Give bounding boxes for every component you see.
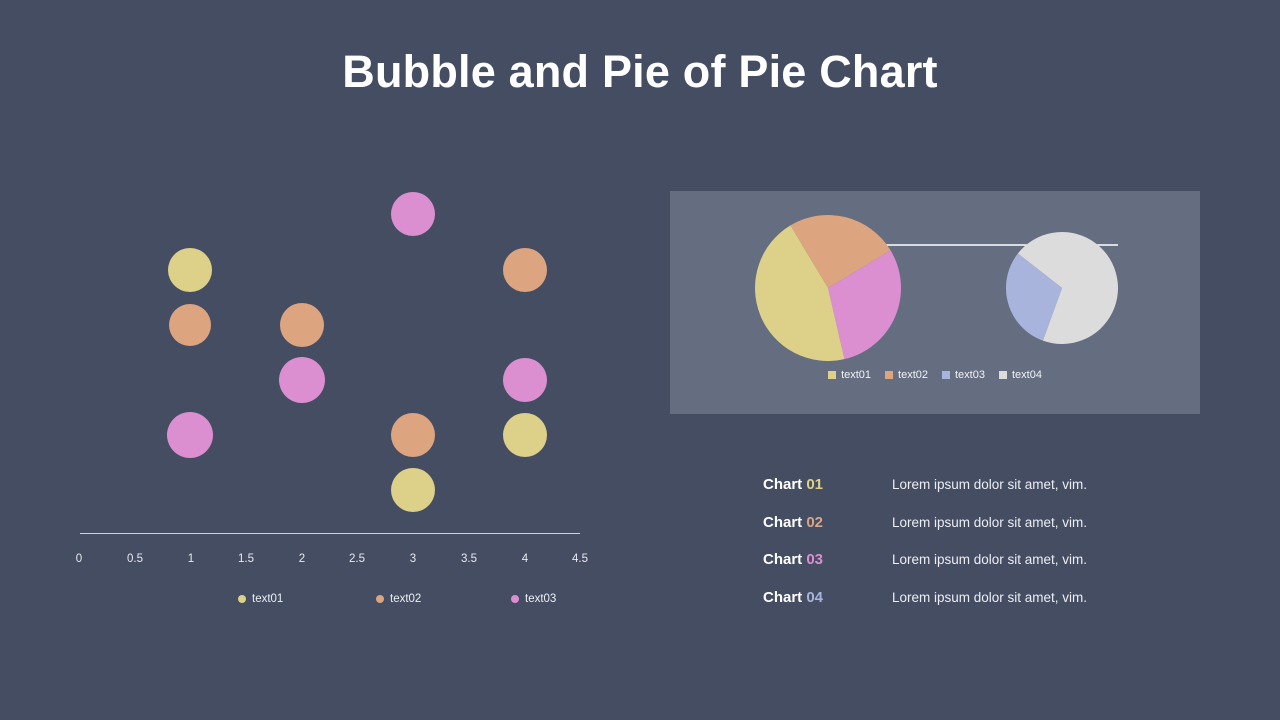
chart-list-row[interactable]: Chart 03Lorem ipsum dolor sit amet, vim. bbox=[763, 551, 1183, 589]
chart-list-title: Chart 02 bbox=[763, 514, 823, 531]
bubble-text02 bbox=[503, 248, 547, 292]
main-pie bbox=[755, 215, 901, 361]
bubble-text02 bbox=[391, 413, 435, 457]
pie-legend-item-text03[interactable]: text03 bbox=[942, 369, 985, 381]
legend-dot-icon bbox=[238, 595, 246, 603]
pie-legend-swatch-icon bbox=[999, 371, 1007, 379]
secondary-pie bbox=[1006, 232, 1118, 344]
x-tick-0: 0 bbox=[76, 553, 82, 565]
bubble-text01 bbox=[503, 413, 547, 457]
bubble-text01 bbox=[391, 468, 435, 512]
x-tick-0.5: 0.5 bbox=[127, 553, 143, 565]
page-title: Bubble and Pie of Pie Chart bbox=[0, 46, 1280, 98]
legend-label: text02 bbox=[390, 593, 421, 605]
chart-list-row[interactable]: Chart 02Lorem ipsum dolor sit amet, vim. bbox=[763, 514, 1183, 552]
bubble-text02 bbox=[169, 304, 211, 346]
x-tick-1: 1 bbox=[188, 553, 194, 565]
bubble-text01 bbox=[168, 248, 212, 292]
x-tick-1.5: 1.5 bbox=[238, 553, 254, 565]
slide-root: Bubble and Pie of Pie Chart 00.511.522.5… bbox=[0, 0, 1280, 720]
legend-item-text03[interactable]: text03 bbox=[511, 593, 556, 605]
x-tick-3: 3 bbox=[410, 553, 416, 565]
bubble-chart-legend: text01text02text03 bbox=[170, 593, 590, 613]
x-tick-4: 4 bbox=[522, 553, 528, 565]
chart-list-row[interactable]: Chart 01Lorem ipsum dolor sit amet, vim. bbox=[763, 476, 1183, 514]
chart-description-list: Chart 01Lorem ipsum dolor sit amet, vim.… bbox=[763, 476, 1183, 626]
x-tick-2.5: 2.5 bbox=[349, 553, 365, 565]
chart-list-row[interactable]: Chart 04Lorem ipsum dolor sit amet, vim. bbox=[763, 589, 1183, 627]
pie-legend-swatch-icon bbox=[885, 371, 893, 379]
bubble-text03 bbox=[391, 192, 435, 236]
chart-list-description: Lorem ipsum dolor sit amet, vim. bbox=[892, 590, 1087, 605]
chart-list-number: 02 bbox=[806, 514, 823, 531]
bubble-plot-area bbox=[60, 175, 600, 535]
pie-legend-item-text01[interactable]: text01 bbox=[828, 369, 871, 381]
pie-legend-label: text02 bbox=[898, 369, 928, 381]
pie-chart-panel: text01text02text03text04 bbox=[670, 191, 1200, 414]
x-tick-4.5: 4.5 bbox=[572, 553, 588, 565]
chart-list-title: Chart 04 bbox=[763, 589, 823, 606]
legend-item-text02[interactable]: text02 bbox=[376, 593, 421, 605]
chart-list-description: Lorem ipsum dolor sit amet, vim. bbox=[892, 552, 1087, 567]
bubble-text03 bbox=[279, 357, 325, 403]
chart-list-description: Lorem ipsum dolor sit amet, vim. bbox=[892, 477, 1087, 492]
legend-dot-icon bbox=[511, 595, 519, 603]
bubble-chart: 00.511.522.533.544.5 text01text02text03 bbox=[60, 175, 600, 615]
bubble-text03 bbox=[503, 358, 547, 402]
pie-legend-item-text04[interactable]: text04 bbox=[999, 369, 1042, 381]
legend-label: text01 bbox=[252, 593, 283, 605]
pie-legend-label: text03 bbox=[955, 369, 985, 381]
x-tick-3.5: 3.5 bbox=[461, 553, 477, 565]
legend-label: text03 bbox=[525, 593, 556, 605]
pie-legend-swatch-icon bbox=[828, 371, 836, 379]
chart-list-number: 03 bbox=[806, 551, 823, 568]
x-tick-2: 2 bbox=[299, 553, 305, 565]
pie-legend-label: text04 bbox=[1012, 369, 1042, 381]
chart-list-description: Lorem ipsum dolor sit amet, vim. bbox=[892, 515, 1087, 530]
pie-chart-legend: text01text02text03text04 bbox=[670, 369, 1200, 381]
pie-legend-item-text02[interactable]: text02 bbox=[885, 369, 928, 381]
pie-legend-label: text01 bbox=[841, 369, 871, 381]
bubble-text02 bbox=[280, 303, 324, 347]
chart-list-number: 01 bbox=[806, 476, 823, 493]
legend-item-text01[interactable]: text01 bbox=[238, 593, 283, 605]
bubble-text03 bbox=[167, 412, 213, 458]
x-axis-tick-labels: 00.511.522.533.544.5 bbox=[60, 553, 600, 571]
pie-legend-swatch-icon bbox=[942, 371, 950, 379]
chart-list-title: Chart 03 bbox=[763, 551, 823, 568]
chart-list-title: Chart 01 bbox=[763, 476, 823, 493]
x-axis-line bbox=[80, 533, 580, 534]
chart-list-number: 04 bbox=[806, 589, 823, 606]
legend-dot-icon bbox=[376, 595, 384, 603]
